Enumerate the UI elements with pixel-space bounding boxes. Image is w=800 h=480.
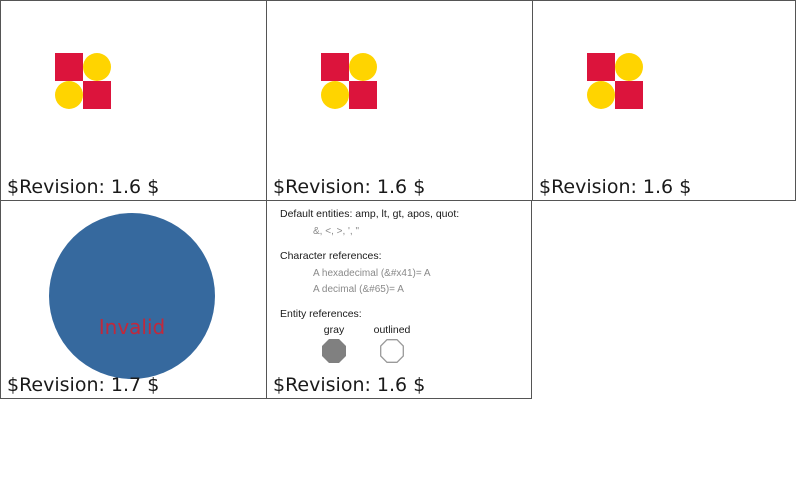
logo-panel-1: $Revision: 1.6 $ — [0, 0, 267, 201]
entities-panel: Default entities: amp, lt, gt, apos, quo… — [266, 200, 532, 399]
spacer — [280, 298, 520, 307]
entities-content: Default entities: amp, lt, gt, apos, quo… — [280, 207, 520, 370]
logo-red-square-bottom-right — [349, 81, 377, 109]
entity-swatch-outlined-label: outlined — [362, 324, 422, 337]
default-entities-heading: Default entities: amp, lt, gt, apos, quo… — [280, 207, 520, 221]
logo-yellow-circle-bottom-left — [55, 81, 83, 109]
logo-yellow-circle-bottom-left — [321, 81, 349, 109]
logo-yellow-circle-bottom-left — [587, 81, 615, 109]
brand-logo-icon — [587, 53, 643, 109]
revision-label: $Revision: 1.6 $ — [273, 374, 425, 396]
invalid-label: Invalid — [49, 315, 215, 339]
blue-circle-group: Invalid — [1, 201, 266, 398]
character-reference-decimal: A decimal (&#65)= A — [280, 282, 520, 297]
gray-octagon-icon — [322, 339, 346, 363]
logo-panel-3: $Revision: 1.6 $ — [532, 0, 796, 201]
spacer — [280, 240, 520, 249]
default-entities-sample: &, <, >, ', " — [280, 224, 520, 239]
logo-yellow-circle-top-right — [615, 53, 643, 81]
revision-label: $Revision: 1.6 $ — [539, 176, 691, 198]
entity-swatch-outlined: outlined — [362, 324, 422, 363]
revision-label: $Revision: 1.6 $ — [273, 176, 425, 198]
brand-logo-icon — [55, 53, 111, 109]
character-references-heading: Character references: — [280, 249, 520, 263]
logo-panel-2: $Revision: 1.6 $ — [266, 0, 533, 201]
stage: $Revision: 1.6 $ $Revision: 1.6 $ $Revis… — [0, 0, 800, 480]
logo-red-square-bottom-right — [615, 81, 643, 109]
logo-red-square-top-left — [55, 53, 83, 81]
invalid-circle-panel: Invalid $Revision: 1.7 $ — [0, 200, 267, 399]
entity-swatch-gray: gray — [304, 324, 364, 363]
brand-logo-icon — [321, 53, 377, 109]
logo-red-square-top-left — [587, 53, 615, 81]
logo-red-square-bottom-right — [83, 81, 111, 109]
outlined-octagon-icon — [380, 339, 404, 363]
character-reference-hex: A hexadecimal (&#x41)= A — [280, 266, 520, 281]
blue-circle-shape — [49, 213, 215, 379]
revision-label: $Revision: 1.6 $ — [7, 176, 159, 198]
entity-references-heading: Entity references: — [280, 307, 520, 321]
logo-yellow-circle-top-right — [349, 53, 377, 81]
revision-label: $Revision: 1.7 $ — [7, 374, 159, 396]
logo-yellow-circle-top-right — [83, 53, 111, 81]
logo-red-square-top-left — [321, 53, 349, 81]
entity-swatch-gray-label: gray — [304, 324, 364, 337]
entity-references-swatches: gray outlined — [280, 324, 520, 370]
